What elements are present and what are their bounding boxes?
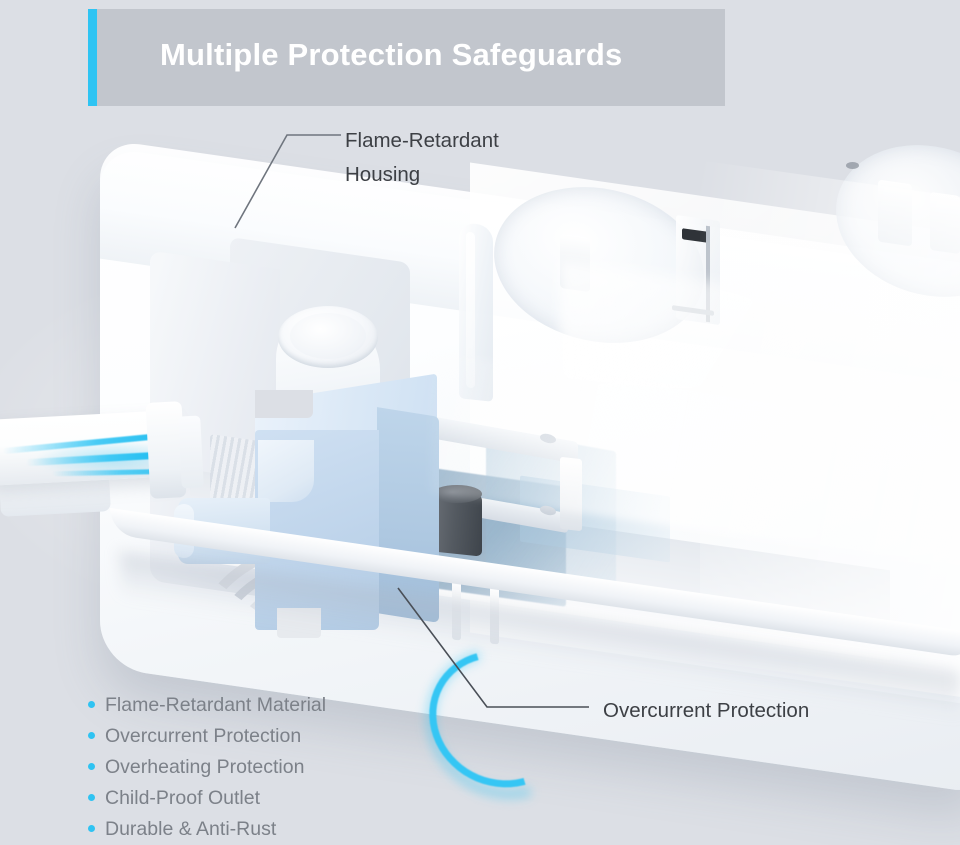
list-item: Overheating Protection [86, 752, 426, 783]
list-item: Child-Proof Outlet [86, 783, 426, 814]
product-illustration [0, 140, 960, 680]
feature-label: Overcurrent Protection [105, 721, 301, 752]
list-item: Durable & Anti-Rust [86, 814, 426, 845]
feature-label: Durable & Anti-Rust [105, 814, 276, 845]
list-item: Flame-Retardant Material [86, 690, 426, 721]
bullet-icon [88, 794, 95, 801]
infographic-canvas: Flame-Retardant Housing Overcurrent Prot… [0, 0, 960, 845]
page-title: Multiple Protection Safeguards [160, 31, 720, 79]
white-button-cap-inner [290, 313, 366, 359]
feature-label: Flame-Retardant Material [105, 690, 326, 721]
bullet-icon [88, 732, 95, 739]
vent-hole [846, 162, 859, 169]
feature-label: Overheating Protection [105, 752, 304, 783]
callout-overcurrent-protection: Overcurrent Protection [603, 694, 903, 728]
feature-list: Flame-Retardant Material Overcurrent Pro… [86, 690, 426, 845]
bullet-icon [88, 825, 95, 832]
list-item: Overcurrent Protection [86, 721, 426, 752]
callout-flame-retardant-housing: Flame-Retardant Housing [345, 124, 605, 192]
overcurrent-breaker-lip [258, 440, 314, 502]
callout-line-2: Housing [345, 158, 605, 192]
power-cord-collar-inner [178, 415, 204, 488]
overcurrent-breaker-notch [255, 390, 313, 418]
callout-line-1: Flame-Retardant [345, 124, 605, 158]
callout-line-1: Overcurrent Protection [603, 694, 903, 728]
feature-label: Child-Proof Outlet [105, 783, 260, 814]
bullet-icon [88, 763, 95, 770]
banner-accent-bar [88, 9, 97, 106]
bullet-icon [88, 701, 95, 708]
